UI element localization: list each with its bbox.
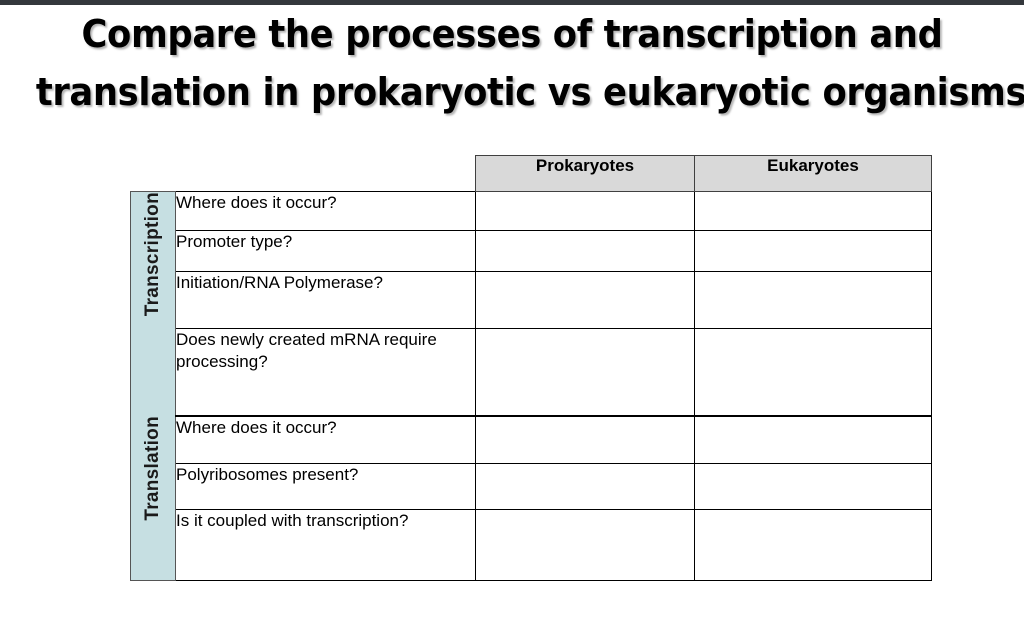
answer-cell-prokaryotes[interactable] [476,329,695,417]
answer-cell-prokaryotes[interactable] [476,231,695,272]
question-cell: Where does it occur? [176,192,476,231]
table-row: Does newly created mRNA require processi… [131,329,932,417]
question-cell: Initiation/RNA Polymerase? [176,272,476,329]
question-cell: Promoter type? [176,231,476,272]
answer-cell-eukaryotes[interactable] [695,272,932,329]
section-label-transcription-text: Transcription [142,192,164,316]
answer-cell-prokaryotes[interactable] [476,510,695,581]
answer-cell-eukaryotes[interactable] [695,510,932,581]
answer-cell-eukaryotes[interactable] [695,192,932,231]
table-row: Translation Where does it occur? [131,416,932,464]
section-label-transcription: Transcription [131,192,176,417]
question-cell: Is it coupled with transcription? [176,510,476,581]
column-header-prokaryotes: Prokaryotes [476,156,695,192]
answer-cell-prokaryotes[interactable] [476,464,695,510]
table-row: Transcription Where does it occur? [131,192,932,231]
answer-cell-prokaryotes[interactable] [476,192,695,231]
table-row: Polyribosomes present? [131,464,932,510]
header-spacer-question-col [176,156,476,192]
table-row: Is it coupled with transcription? [131,510,932,581]
slide-title: Compare the processes of transcription a… [0,5,1024,121]
comparison-table: Prokaryotes Eukaryotes Transcription Whe… [130,155,932,581]
comparison-table-container: Prokaryotes Eukaryotes Transcription Whe… [130,155,931,588]
answer-cell-prokaryotes[interactable] [476,416,695,464]
section-label-translation: Translation [131,416,176,581]
answer-cell-eukaryotes[interactable] [695,329,932,417]
header-spacer-rotated-col [131,156,176,192]
table-header-row: Prokaryotes Eukaryotes [131,156,932,192]
section-label-translation-text: Translation [142,416,164,521]
answer-cell-eukaryotes[interactable] [695,416,932,464]
question-cell: Does newly created mRNA require processi… [176,329,476,417]
answer-cell-prokaryotes[interactable] [476,272,695,329]
table-row: Promoter type? [131,231,932,272]
answer-cell-eukaryotes[interactable] [695,231,932,272]
question-cell: Where does it occur? [176,416,476,464]
slide-title-line-1: Compare the processes of transcription a… [36,5,988,63]
question-cell: Polyribosomes present? [176,464,476,510]
table-row: Initiation/RNA Polymerase? [131,272,932,329]
column-header-eukaryotes: Eukaryotes [695,156,932,192]
slide-title-line-2: translation in prokaryotic vs eukaryotic… [36,63,988,121]
answer-cell-eukaryotes[interactable] [695,464,932,510]
